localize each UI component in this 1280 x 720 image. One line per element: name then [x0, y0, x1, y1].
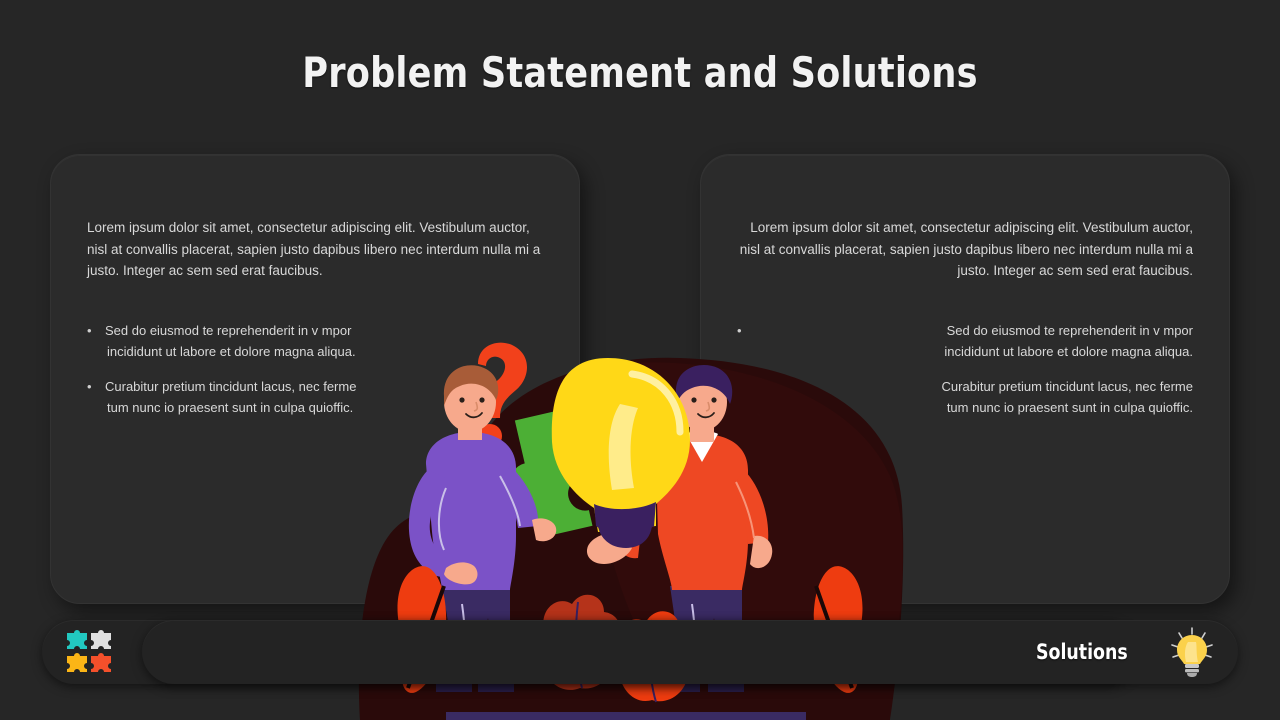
bullet-line-2: incididunt ut labore et dolore magna ali… [755, 341, 1193, 362]
left-card-body: Lorem ipsum dolor sit amet, consectetur … [51, 217, 579, 432]
right-card-body: Lorem ipsum dolor sit amet, consectetur … [701, 217, 1229, 432]
bullet-marker: • [87, 376, 92, 397]
bullet-line-1: Curabitur pretium tincidunt lacus, nec f… [105, 379, 356, 394]
list-item: • Sed do eiusmod te reprehenderit in v m… [737, 320, 1193, 362]
problem-statement-card[interactable]: Lorem ipsum dolor sit amet, consectetur … [50, 154, 580, 604]
bullet-marker: • [87, 320, 92, 341]
solutions-label: Solutions [1036, 640, 1128, 664]
bullet-marker: • [737, 320, 742, 341]
bullet-line-2: incididunt ut labore et dolore magna ali… [105, 341, 543, 362]
bullet-line-1: Curabitur pretium tincidunt lacus, nec f… [942, 379, 1193, 394]
solutions-pill[interactable]: Solutions [142, 620, 1238, 684]
left-bullet-list: • Sed do eiusmod te reprehenderit in v m… [87, 320, 543, 418]
bullet-line-2: tum nunc io praesent sunt in culpa quiof… [755, 397, 1193, 418]
list-item: • Sed do eiusmod te reprehenderit in v m… [87, 320, 543, 362]
right-bullet-list: • Sed do eiusmod te reprehenderit in v m… [737, 320, 1193, 418]
lightbulb-icon [1164, 624, 1220, 680]
right-paragraph: Lorem ipsum dolor sit amet, consectetur … [737, 217, 1193, 282]
left-paragraph: Lorem ipsum dolor sit amet, consectetur … [87, 217, 543, 282]
bullet-line-1: Sed do eiusmod te reprehenderit in v mpo… [105, 323, 351, 338]
list-item: • Curabitur pretium tincidunt lacus, nec… [87, 376, 543, 418]
bullet-line-1: Sed do eiusmod te reprehenderit in v mpo… [947, 323, 1193, 338]
bullet-marker: • [737, 376, 742, 397]
list-item: • Curabitur pretium tincidunt lacus, nec… [737, 376, 1193, 418]
bullet-line-2: tum nunc io praesent sunt in culpa quiof… [105, 397, 543, 418]
puzzle-pieces-icon [60, 624, 116, 680]
slide-root: Problem Statement and Solutions Lorem ip… [0, 0, 1280, 720]
solutions-card[interactable]: Lorem ipsum dolor sit amet, consectetur … [700, 154, 1230, 604]
page-title: Problem Statement and Solutions [45, 48, 1235, 97]
